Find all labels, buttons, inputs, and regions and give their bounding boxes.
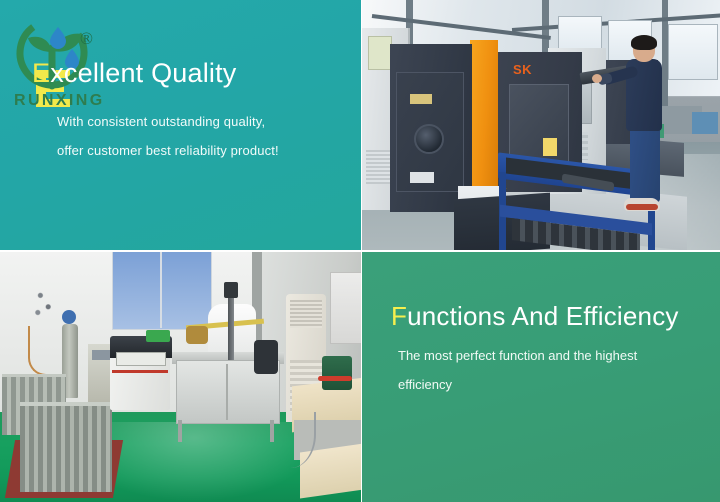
cnc-photo-scene: SK [362,0,720,250]
cnc-door-window [509,84,569,164]
laser-machine-display [116,352,166,366]
workshop-photo-scene [0,252,361,502]
promo-banner: ® RUNXING Excellent Quality With consist… [0,0,720,502]
metal-parts-stack-front [20,402,112,492]
panel-title: Functions And Efficiency [391,301,679,332]
welding-arm-head [224,282,238,298]
cnc-orange-column [470,40,498,188]
machine-brand-text: SK [513,62,532,77]
cabinet-label-top [410,94,432,104]
cabinet-label-bottom [410,172,434,183]
window-mullion [160,252,162,328]
brand-accent-dot [532,62,536,77]
subtitle-line-2: offer customer best reliability product! [57,143,279,158]
control-box-display [92,350,112,360]
secondary-machine-panel [368,36,392,70]
machine-brand-label: SK [513,62,536,77]
headline-rest: xcellent Quality [50,58,236,88]
logo-wordmark: RUNXING [14,92,105,110]
ac-vent [290,300,322,328]
panel-functions-efficiency: Functions And Efficiency The most perfec… [362,252,720,502]
cabinet-door-seam [226,364,228,420]
worker-legs [630,128,660,202]
bench-leg-left [178,420,182,442]
subtitle-line-1: The most perfect function and the highes… [398,348,637,363]
background-equipment-4 [692,112,718,134]
cabinet-port-icon [414,124,444,154]
subtitle-line-2: efficiency [398,377,452,392]
subtitle-line-1: With consistent outstanding quality, [57,114,265,129]
factory-worker [620,38,676,224]
worker-hair [631,35,657,50]
gas-cylinder-valve [62,310,76,324]
headline-initial-cap: E [32,58,50,88]
bench-vise-handle [318,376,352,381]
wall-hanging-tools [30,284,56,322]
bench-vise [322,356,352,390]
wall-control-panel [330,272,361,344]
photo-workshop [0,252,361,502]
horizontal-divider [0,250,720,252]
panel-excellent-quality: ® RUNXING Excellent Quality With consist… [0,0,361,250]
photo-cnc-machine: SK [362,0,720,250]
green-component [146,330,170,342]
laser-machine-stripe [112,370,168,373]
cnc-warning-tag [543,138,557,156]
worker-hand [592,74,602,83]
welding-arm-joint [186,326,208,344]
workshop-window [112,252,212,330]
worker-shoe-sole [626,204,658,210]
page-title: Excellent Quality [32,58,237,89]
headline-rest: unctions And Efficiency [407,301,679,331]
headline-initial-cap: F [391,301,407,331]
registered-trademark-icon: ® [80,30,93,47]
operator-chair [254,340,278,374]
